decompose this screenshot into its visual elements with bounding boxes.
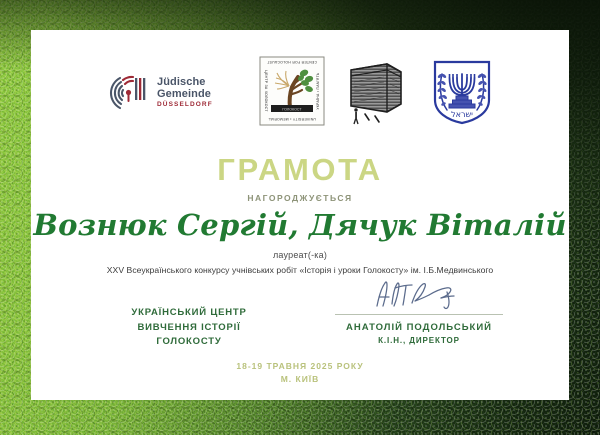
israel-emblem-hebrew-text: ישראל [451, 110, 473, 119]
issuing-organization: УКРАЇНСЬКИЙ ЦЕНТР ВИВЧЕННЯ ІСТОРІЇ ГОЛОК… [79, 306, 299, 350]
organization-line-1: УКРАЇНСЬКИЙ ЦЕНТР [79, 306, 299, 321]
svg-text:ЦЕНТР ЗА ХОЛОКОСТ: ЦЕНТР ЗА ХОЛОКОСТ [264, 70, 268, 111]
certificate-subtitle: НАГОРОДЖУЄТЬСЯ [31, 193, 569, 203]
event-date-block: 18-19 ТРАВНЯ 2025 РОКУ М. КИЇВ [31, 360, 569, 386]
laureate-label: лауреат(-ка) [31, 250, 569, 260]
jgd-line-2: Gemeinde [157, 89, 213, 101]
jgd-line-3: DÜSSELDORF [157, 102, 213, 109]
logo-judische-gemeinde-dusseldorf: Jüdische Gemeinde DÜSSELDORF [106, 70, 236, 116]
certificate-screenshot: Jüdische Gemeinde DÜSSELDORF CENTER FOR … [0, 0, 600, 435]
certificate-title: ГРАМОТА [31, 152, 569, 188]
recipient-names: Вознюк Сергій, Дячук Віталій [31, 208, 569, 242]
signature-rule [335, 314, 503, 315]
competition-description: XXV Всеукраїнського конкурсу учнівських … [31, 265, 569, 275]
logo-holocaust-center-tree-emblem: CENTER FOR HOLOCAUST UNIVERSITY • MEMORI… [259, 56, 325, 126]
signatory-name: АНАТОЛІЙ ПОДОЛЬСЬКИЙ [303, 322, 535, 333]
logo-emblem-of-israel: ישראל [429, 56, 495, 126]
judische-gemeinde-mark-icon [106, 73, 152, 113]
organization-line-3: ГОЛОКОСТУ [79, 335, 299, 350]
svg-text:UNIVERSITY • MEMORIAL: UNIVERSITY • MEMORIAL [268, 117, 316, 121]
logo-row: Jüdische Gemeinde DÜSSELDORF CENTER FOR … [31, 54, 569, 128]
logo-memorial-book-emblem [343, 56, 409, 126]
svg-text:УКРАЇНА • ПАМ'ЯТЬ: УКРАЇНА • ПАМ'ЯТЬ [316, 72, 320, 110]
certificate-card: Jüdische Gemeinde DÜSSELDORF CENTER FOR … [31, 30, 569, 400]
organization-line-2: ВИВЧЕННЯ ІСТОРІЇ [79, 321, 299, 336]
signature-block: АНАТОЛІЙ ПОДОЛЬСЬКИЙ К.І.Н., ДИРЕКТОР [303, 278, 535, 345]
judische-gemeinde-wordmark: Jüdische Gemeinde DÜSSELDORF [157, 77, 213, 108]
handwritten-signature-icon [359, 278, 479, 312]
svg-text:CENTER FOR HOLOCAUST: CENTER FOR HOLOCAUST [267, 60, 317, 64]
svg-text:ГОЛОКОСТ: ГОЛОКОСТ [282, 107, 302, 111]
event-city: М. КИЇВ [31, 373, 569, 386]
event-date: 18-19 ТРАВНЯ 2025 РОКУ [31, 360, 569, 373]
signatory-role: К.І.Н., ДИРЕКТОР [303, 336, 535, 345]
